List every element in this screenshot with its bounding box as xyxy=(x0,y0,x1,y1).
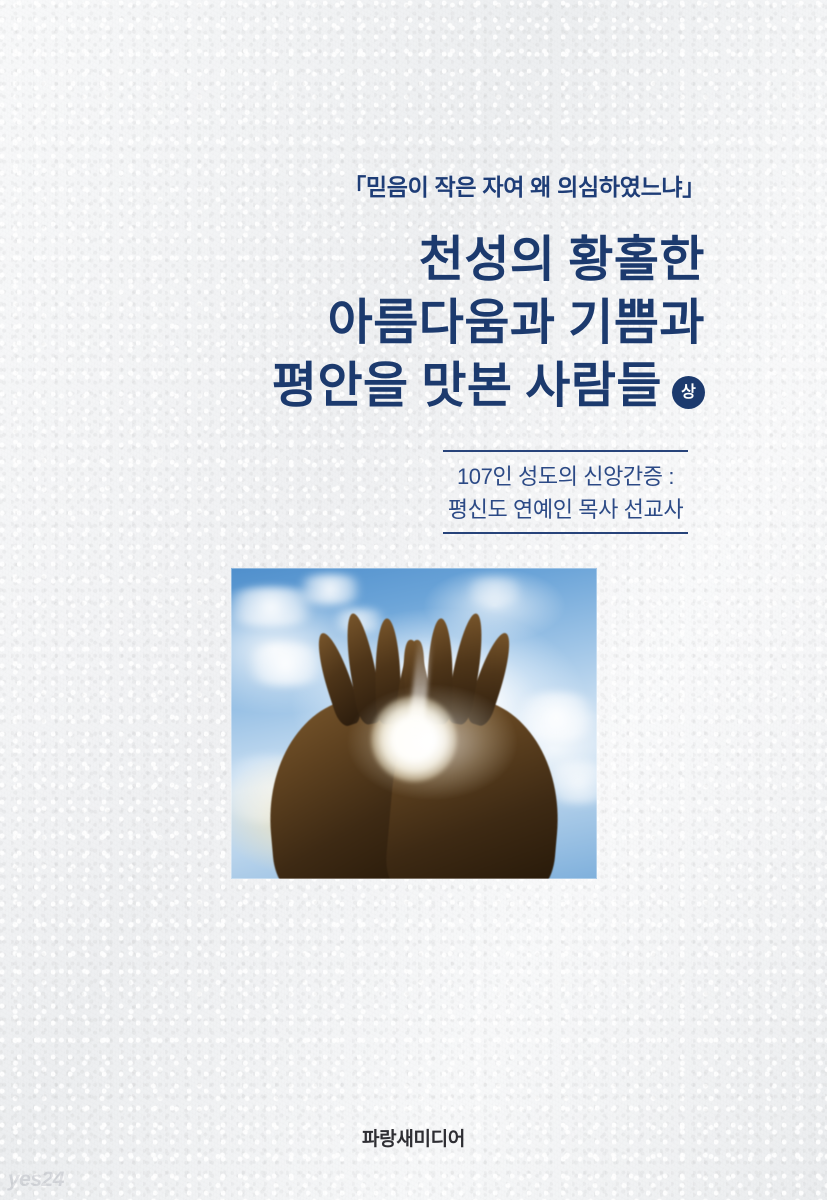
cover-quote: 「믿음이 작은 자여 왜 의심하였느냐」 xyxy=(0,168,705,202)
yes24-watermark: yes24 xyxy=(8,1168,64,1192)
subtitle-line-1: 107인 성도의 신앙간증 : xyxy=(443,460,688,493)
book-title: 천성의 황홀한 아름다움과 기쁨과 평안을 맛본 사람들 상 xyxy=(0,228,705,417)
cover-photo-hands-reaching-to-light xyxy=(231,568,597,879)
title-line-3-row: 평안을 맛본 사람들 상 xyxy=(0,354,705,417)
title-line-1: 천성의 황홀한 xyxy=(0,228,705,291)
title-line-3: 평안을 맛본 사람들 xyxy=(272,354,662,417)
volume-badge: 상 xyxy=(672,376,705,409)
book-subtitle: 107인 성도의 신앙간증 : 평신도 연예인 목사 선교사 xyxy=(443,450,688,534)
publisher-name: 파랑새미디어 xyxy=(0,1124,827,1151)
subtitle-text: 107인 성도의 신앙간증 : 평신도 연예인 목사 선교사 xyxy=(443,452,688,532)
book-cover: 「믿음이 작은 자여 왜 의심하였느냐」 천성의 황홀한 아름다움과 기쁨과 평… xyxy=(0,0,827,1200)
subtitle-line-2: 평신도 연예인 목사 선교사 xyxy=(443,493,688,526)
title-line-2: 아름다움과 기쁨과 xyxy=(0,291,705,354)
subtitle-rule-bottom xyxy=(443,532,688,534)
